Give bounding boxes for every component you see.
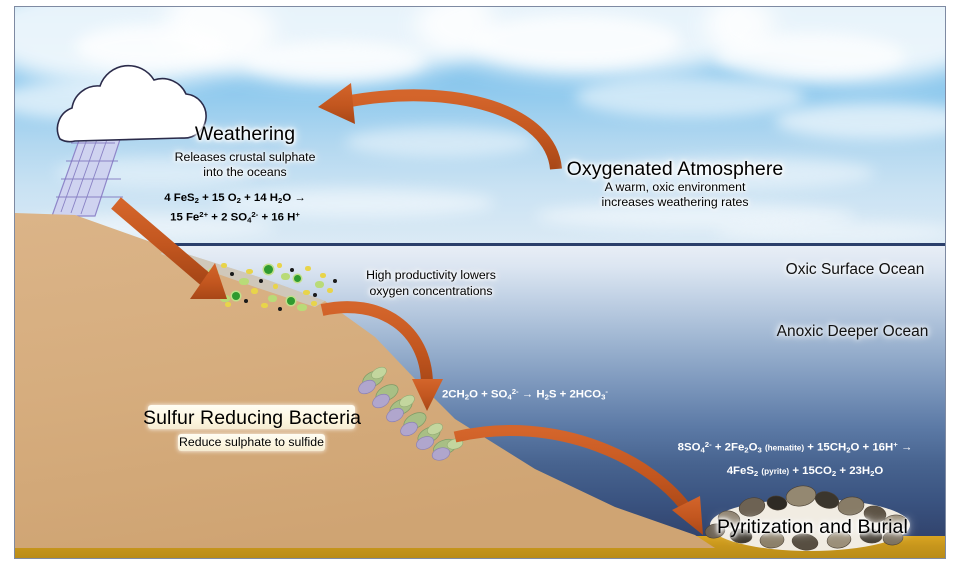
atmosphere-subtitle-line2: increases weathering rates [525, 195, 825, 210]
productivity-note-line1: High productivity lowers [331, 268, 531, 283]
atmosphere-title: Oxygenated Atmosphere [525, 158, 825, 181]
diagram-canvas: Weathering Releases crustal sulphate int… [0, 0, 960, 565]
bacteria-title: Sulfur Reducing Bacteria [143, 407, 361, 430]
weathering-title: Weathering [135, 123, 355, 146]
equation-pyritization-line1: 8SO42- + 2Fe2O3 (hematite) + 15CH2O + 16… [640, 440, 946, 455]
equation-pyrite-oxidation-line1: 4 FeS2 + 15 O2 + 14 H2O → [95, 192, 375, 205]
ocean-layer-oxic-label: Oxic Surface Ocean [755, 261, 946, 279]
diagram-frame: Weathering Releases crustal sulphate int… [14, 6, 946, 559]
weathering-subtitle-line2: into the oceans [135, 165, 355, 180]
weathering-subtitle-line1: Releases crustal sulphate [135, 150, 355, 165]
equation-pyrite-oxidation-line2: 15 Fe2+ + 2 SO42- + 16 H+ [95, 210, 375, 225]
productivity-note-line2: oxygen concentrations [331, 284, 531, 299]
ocean-layer-anoxic-label: Anoxic Deeper Ocean [745, 323, 946, 341]
atmosphere-subtitle-line1: A warm, oxic environment [525, 180, 825, 195]
burial-title: Pyritization and Burial [705, 516, 920, 539]
bacteria-subtitle: Reduce sulphate to sulfide [173, 435, 330, 450]
equation-pyritization-line2: 4FeS2 (pyrite) + 15CO2 + 23H2O [655, 465, 946, 478]
equation-sulphate-reduction: 2CH2O + SO42- → H2S + 2HCO3- [415, 387, 635, 402]
